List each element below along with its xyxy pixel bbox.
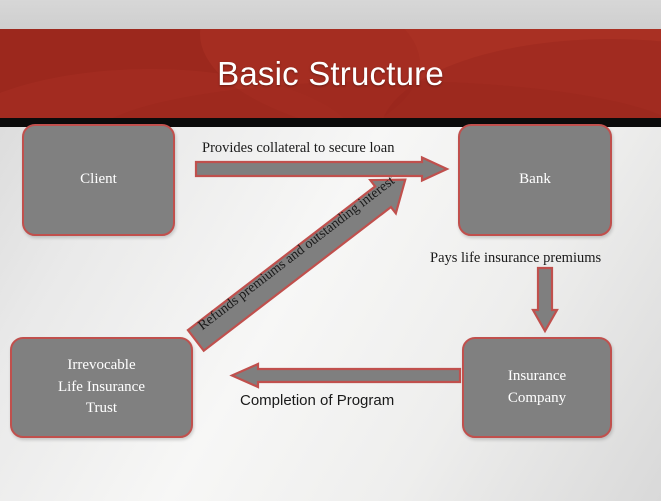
node-insurance-label-line2: Company (508, 390, 566, 406)
node-client-label: Client (80, 169, 117, 191)
node-trust-label-line3: Trust (86, 400, 117, 416)
node-trust-label-line1: Irrevocable (67, 357, 135, 373)
node-trust-label-line2: Life Insurance (58, 379, 145, 395)
title-banner: Basic Structure (0, 29, 661, 118)
slide-canvas: Basic Structure Client Bank Irrevocable … (0, 0, 661, 501)
node-trust-label: Irrevocable Life Insurance Trust (58, 355, 145, 420)
page-title: Basic Structure (0, 29, 661, 118)
node-bank-label: Bank (519, 169, 551, 191)
node-insurance-label-line1: Insurance (508, 368, 566, 384)
connector-label-premiums: Pays life insurance premiums (430, 250, 601, 267)
node-client[interactable]: Client (22, 124, 175, 236)
top-strip (0, 0, 661, 29)
connector-label-collateral: Provides collateral to secure loan (202, 140, 394, 157)
arrow-diagonal-up-right-icon[interactable] (178, 178, 428, 353)
arrow-left-icon[interactable] (228, 362, 462, 388)
node-bank[interactable]: Bank (458, 124, 612, 236)
node-insurance-label: Insurance Company (508, 366, 566, 410)
node-irrevocable-life-insurance-trust[interactable]: Irrevocable Life Insurance Trust (10, 337, 193, 438)
node-insurance-company[interactable]: Insurance Company (462, 337, 612, 438)
arrow-down-icon[interactable] (530, 266, 560, 334)
connector-label-completion: Completion of Program (240, 392, 394, 409)
